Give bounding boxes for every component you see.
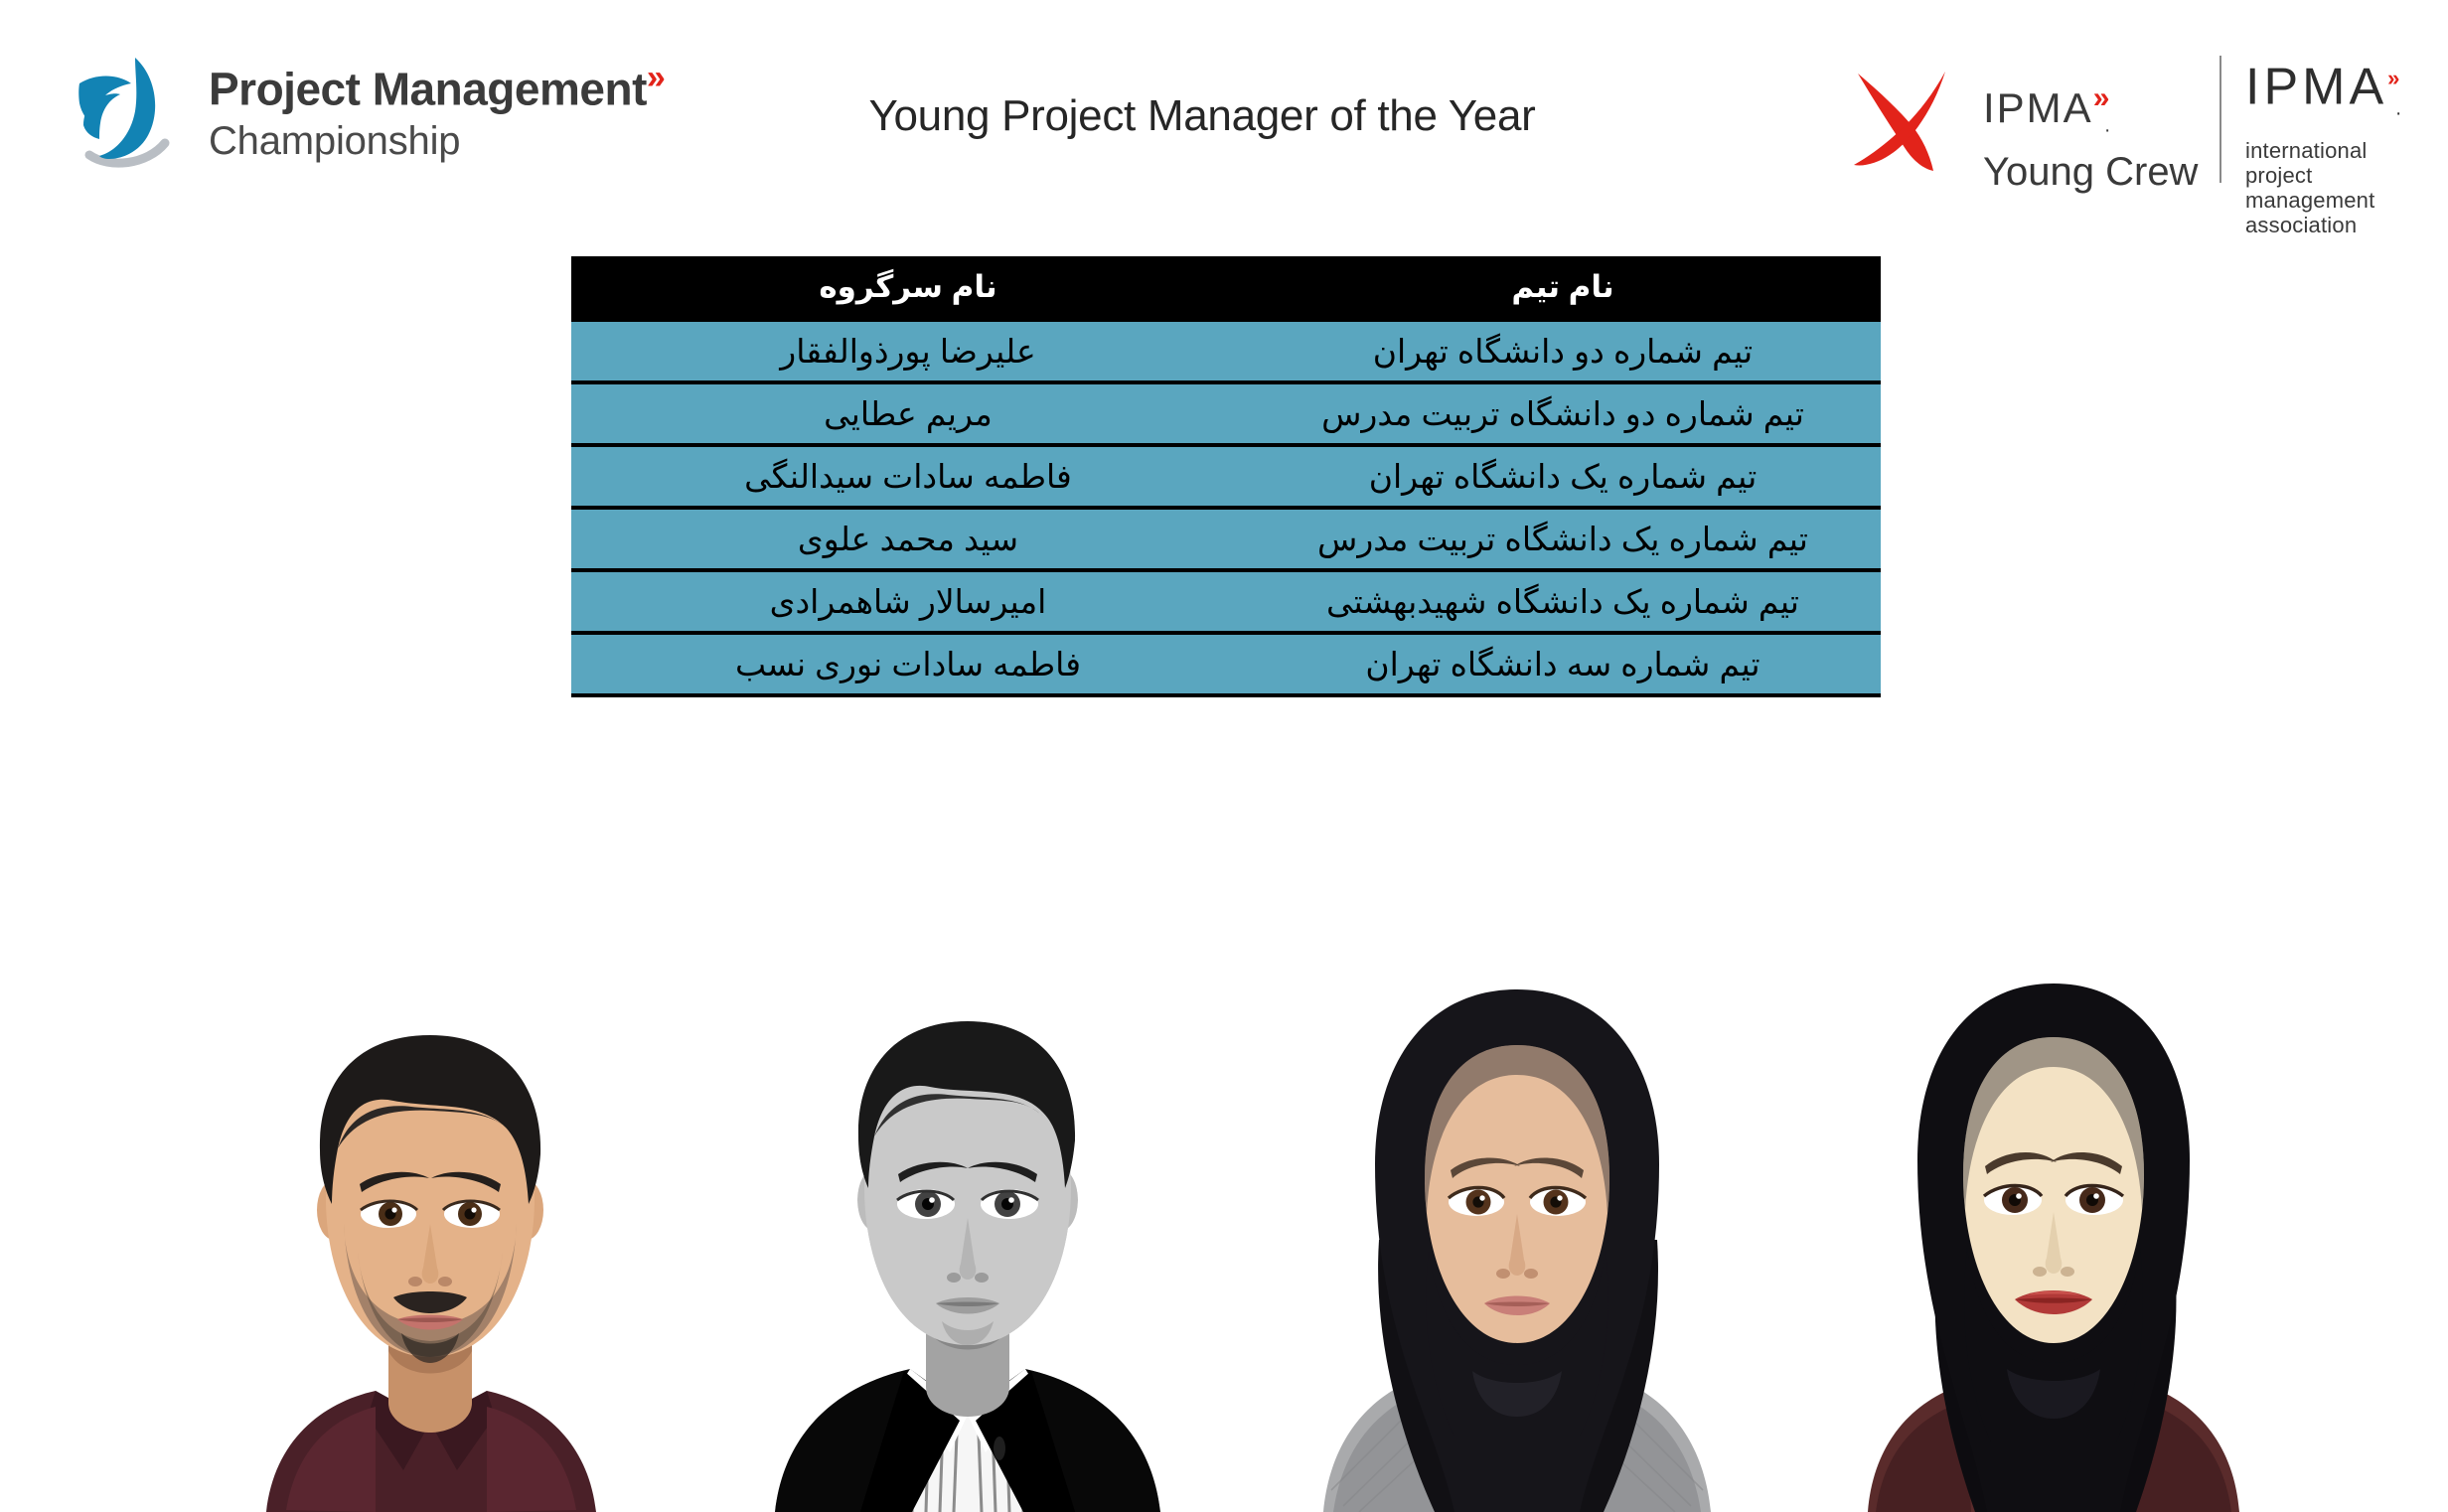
registered-dot-icon: . [2104,114,2112,136]
ipma-sub-line-2: project [2245,163,2394,188]
cell-team-name: تیم شماره سه دانشگاه تهران [1245,633,1881,695]
cell-team-name: تیم شماره یک دانشگاه شهیدبهشتی [1245,570,1881,633]
cell-team-name: تیم شماره یک دانشگاه تربیت مدرس [1245,508,1881,570]
ipma-sub-line-3: management [2245,188,2394,213]
table-row: تیم شماره یک دانشگاه تربیت مدرسسید محمد … [571,508,1881,570]
cell-leader-name: علیرضا پورذوالفقار [571,320,1245,382]
logo-divider [2219,56,2221,183]
ipma-sub-line-1: international [2245,138,2394,163]
pmc-swoosh-icon [62,48,189,175]
portrait-photo-1 [227,954,634,1512]
portrait-photo-4 [1850,954,2257,1512]
chevron-double-right-icon: » [647,52,660,103]
photo-strip [0,954,2448,1512]
pmc-line2: Championship [209,116,636,166]
cell-leader-name: مریم عطایی [571,382,1245,445]
young-crew-brand: IPMA». [1983,76,2212,148]
table-header-row: نام تیم نام سرگروه [571,256,1881,320]
portrait-photo-2 [765,976,1170,1512]
cell-team-name: تیم شماره یک دانشگاه تهران [1245,445,1881,508]
page-title: Young Project Manager of the Year [755,91,1649,141]
ipma-wordmark: IPMA». international project management … [2245,50,2394,237]
portrait-photo-3 [1313,954,1721,1512]
cell-leader-name: فاطمه سادات سیدالنگی [571,445,1245,508]
cell-leader-name: امیرسالار شاهمرادی [571,570,1245,633]
pmc-logo: Project Management» Championship [62,46,638,175]
pmc-line1: Project Management» [209,52,636,114]
table-body: تیم شماره دو دانشگاه تهرانعلیرضا پورذوال… [571,320,1881,695]
chevron-double-right-icon: » [2093,76,2105,121]
ipma-sub-line-4: association [2245,213,2394,237]
header-bar: Project Management» Championship Young P… [0,0,2448,248]
young-crew-wordmark: IPMA». Young Crew [1983,76,2212,196]
cell-leader-name: فاطمه سادات نوری نسب [571,633,1245,695]
table-row: تیم شماره سه دانشگاه تهرانفاطمه سادات نو… [571,633,1881,695]
teams-table: نام تیم نام سرگروه تیم شماره دو دانشگاه … [571,256,1881,697]
column-header-team: نام تیم [1245,256,1881,320]
young-crew-sub: Young Crew [1983,148,2212,196]
cell-team-name: تیم شماره دو دانشگاه تربیت مدرس [1245,382,1881,445]
column-header-leader: نام سرگروه [571,256,1245,320]
table-row: تیم شماره یک دانشگاه تهرانفاطمه سادات سی… [571,445,1881,508]
registered-dot-icon: . [2395,98,2405,120]
pmc-wordmark: Project Management» Championship [209,52,636,171]
table-row: تیم شماره دو دانشگاه تربیت مدرسمریم عطای… [571,382,1881,445]
cell-team-name: تیم شماره دو دانشگاه تهران [1245,320,1881,382]
cell-leader-name: سید محمد علوی [571,508,1245,570]
table-header: نام تیم نام سرگروه [571,256,1881,320]
table-row: تیم شماره یک دانشگاه شهیدبهشتیامیرسالار … [571,570,1881,633]
ipma-brand: IPMA». [2245,50,2394,138]
young-crew-x-icon [1850,60,1971,179]
ipma-lockup: IPMA». Young Crew IPMA». international p… [1850,44,2386,195]
table-row: تیم شماره دو دانشگاه تهرانعلیرضا پورذوال… [571,320,1881,382]
